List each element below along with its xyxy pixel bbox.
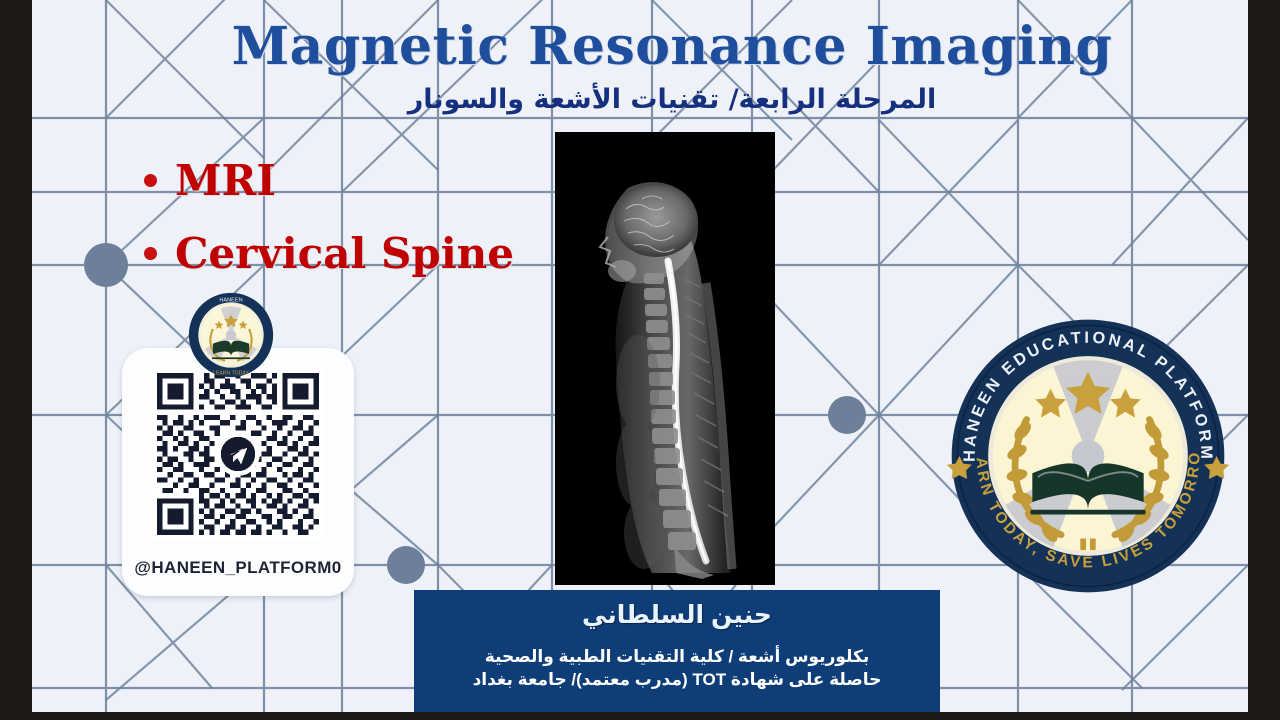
bullet-label: MRI <box>175 156 276 205</box>
svg-text:LEARN TODAY: LEARN TODAY <box>213 371 249 377</box>
mri-spine-image <box>556 133 774 584</box>
svg-text:HANEEN: HANEEN <box>219 297 242 303</box>
presenter-name: حنين السلطاني <box>582 600 772 630</box>
presenter-credentials: بكلوريوس أشعة / كلية التقنيات الطبية وال… <box>473 646 882 692</box>
frame-border-bottom <box>0 712 1280 720</box>
haneen-logo-badge-small: HANEEN LEARN TODAY <box>188 292 274 378</box>
qr-handle-label: @HANEEN_PLATFORM0 <box>122 558 354 578</box>
slide-background: Magnetic Resonance Imaging المرحلة الراب… <box>32 0 1248 712</box>
list-item: Cervical Spine <box>144 229 514 278</box>
bullet-dot-icon <box>144 247 157 260</box>
bullet-list: MRI Cervical Spine <box>144 156 514 302</box>
bullet-label: Cervical Spine <box>175 229 514 278</box>
bullet-dot-icon <box>144 174 157 187</box>
haneen-logo-badge-large: HANEEN EDUCATIONAL PLATFORM LEARN TODAY,… <box>944 312 1232 600</box>
list-item: MRI <box>144 156 514 205</box>
qr-code-card[interactable]: @HANEEN_PLATFORM0 <box>122 348 354 596</box>
presenter-credential-line: بكلوريوس أشعة / كلية التقنيات الطبية وال… <box>473 646 882 669</box>
slide-title: Magnetic Resonance Imaging <box>64 16 1248 77</box>
frame-border-right <box>1248 0 1280 720</box>
presenter-credential-line: حاصلة على شهادة TOT (مدرب معتمد)/ جامعة … <box>473 669 882 692</box>
qr-code-image[interactable] <box>152 368 324 540</box>
slide-subtitle-arabic: المرحلة الرابعة/ تقنيات الأشعة والسونار <box>64 84 1248 115</box>
telegram-icon <box>221 437 255 471</box>
presenter-banner: حنين السلطاني بكلوريوس أشعة / كلية التقن… <box>414 590 940 712</box>
slide-canvas: Magnetic Resonance Imaging المرحلة الراب… <box>0 0 1280 720</box>
frame-border-left <box>0 0 32 720</box>
